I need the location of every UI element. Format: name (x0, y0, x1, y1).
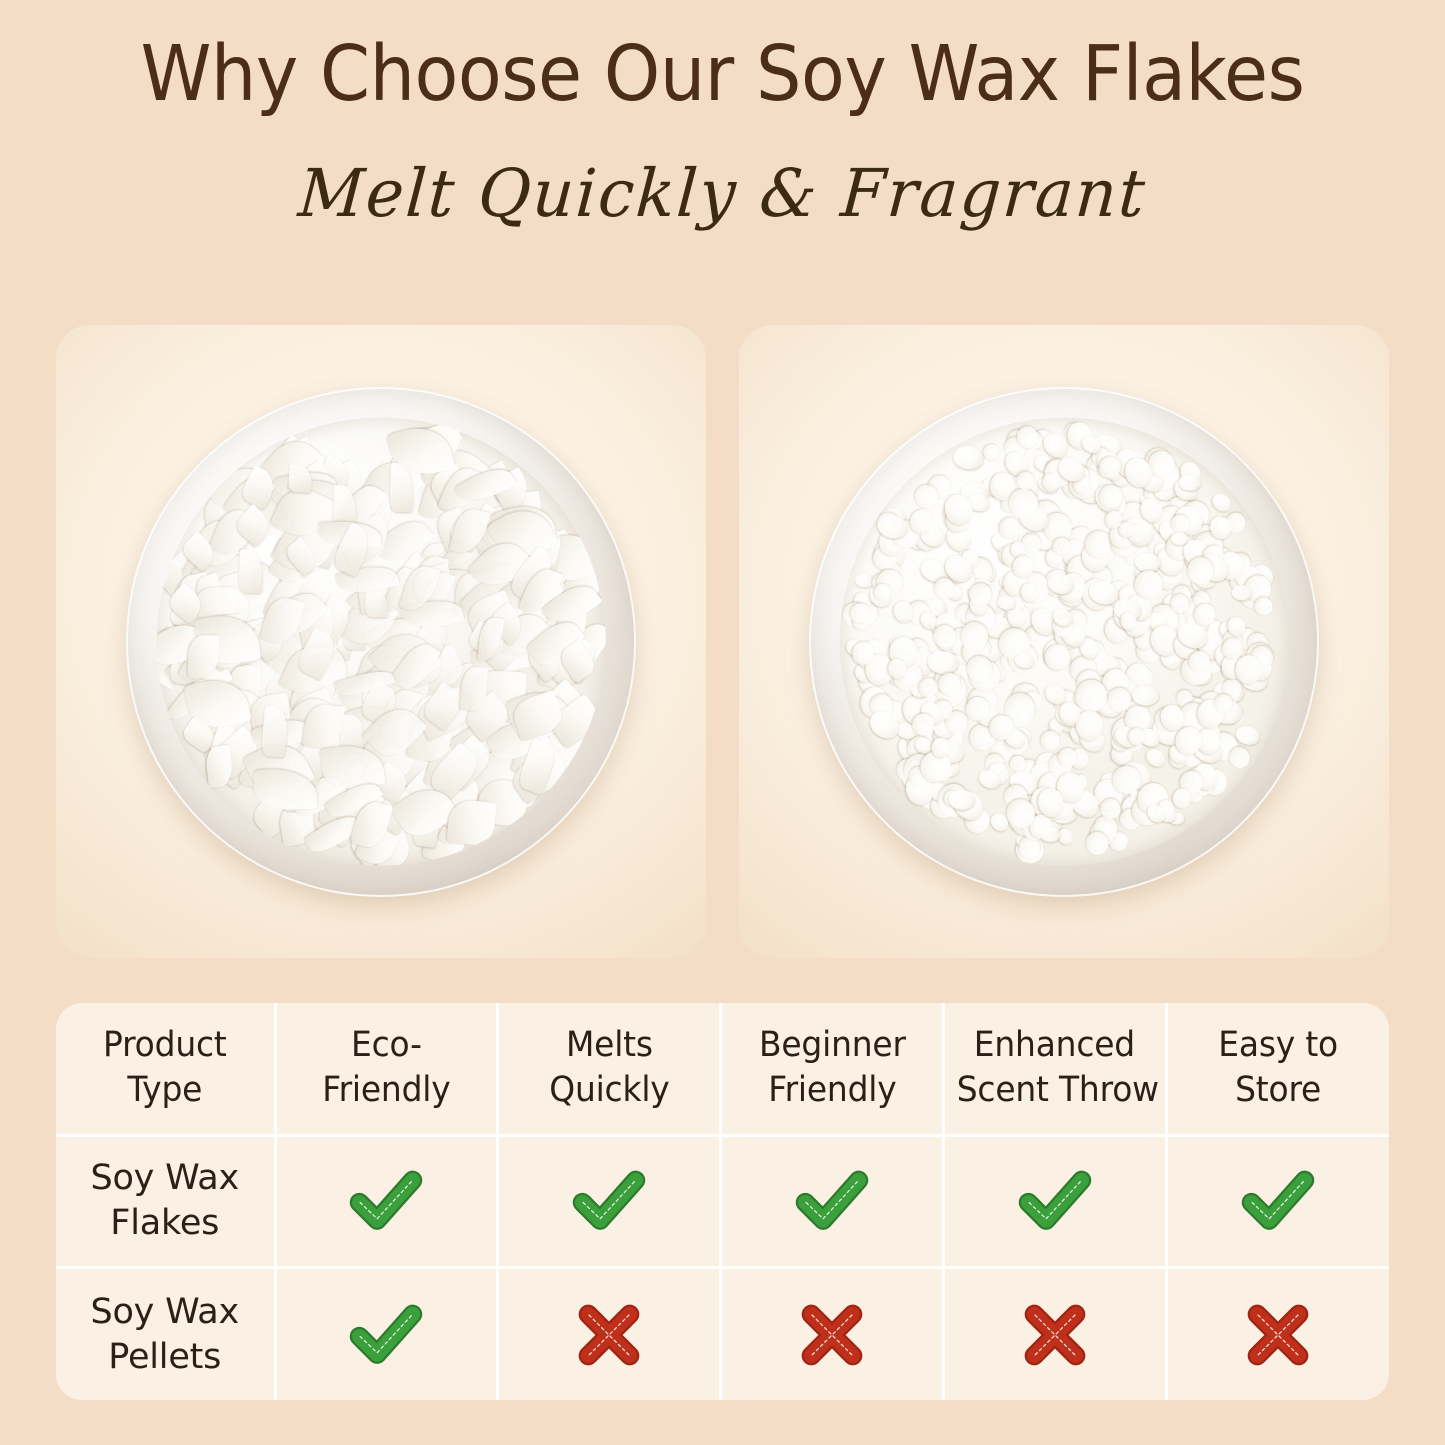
table-header: Product Type Eco- Friendly Melts Quickly… (56, 1003, 1389, 1135)
bowl-of-soy-wax-pellets (809, 387, 1319, 897)
column-header-line: Friendly (289, 1068, 484, 1113)
row-label-soy-wax-pellets: Soy Wax Pellets (56, 1268, 275, 1401)
cell-pellets-enhanced-scent-throw (943, 1268, 1166, 1401)
column-header-enhanced-scent-throw: Enhanced Scent Throw (950, 1003, 1159, 1135)
column-header-line: Store (1180, 1068, 1377, 1113)
table-body: Soy Wax Flakes Soy Wax Pellets (56, 1135, 1389, 1400)
column-header-easy-to-store: Easy to Store (1173, 1003, 1382, 1135)
check-mark-icon (349, 1298, 423, 1372)
comparison-table-panel: Product Type Eco- Friendly Melts Quickly… (56, 1003, 1389, 1400)
cell-flakes-eco-friendly (275, 1135, 498, 1268)
row-label-line: Pellets (62, 1335, 268, 1380)
check-mark-icon (1018, 1164, 1092, 1238)
table-header-row: Product Type Eco- Friendly Melts Quickly… (56, 1003, 1389, 1135)
column-header-line: Beginner (734, 1023, 929, 1068)
cell-pellets-melts-quickly (498, 1268, 721, 1401)
check-mark-icon (349, 1164, 423, 1238)
column-header-line: Easy to (1180, 1023, 1377, 1068)
row-label-text: Soy Wax Flakes (62, 1156, 268, 1246)
page-subtitle: Melt Quickly & Fragrant (19, 158, 1426, 231)
soy-wax-pellets-fill (840, 417, 1289, 866)
column-header-eco-friendly: Eco- Friendly (282, 1003, 491, 1135)
cell-flakes-melts-quickly (498, 1135, 721, 1268)
column-header-line: Type (68, 1068, 261, 1113)
column-header-line: Scent Throw (957, 1068, 1152, 1113)
column-header-beginner-friendly: Beginner Friendly (727, 1003, 936, 1135)
table-row: Soy Wax Flakes (56, 1135, 1389, 1268)
cell-flakes-easy-to-store (1166, 1135, 1389, 1268)
cross-mark-icon (1018, 1298, 1092, 1372)
cross-mark-icon (1241, 1298, 1315, 1372)
cell-pellets-eco-friendly (275, 1268, 498, 1401)
check-mark-icon (1241, 1164, 1315, 1238)
column-header-line: Enhanced (957, 1023, 1152, 1068)
glass-bowl (126, 387, 636, 897)
page-title: Why Choose Our Soy Wax Flakes (51, 36, 1395, 113)
column-header-line: Product (68, 1023, 261, 1068)
row-label-line: Flakes (62, 1201, 268, 1246)
cross-mark-icon (572, 1298, 646, 1372)
column-header-line: Friendly (734, 1068, 929, 1113)
column-header-line: Quickly (512, 1068, 707, 1113)
infographic-page: Why Choose Our Soy Wax Flakes Melt Quick… (0, 0, 1445, 1445)
row-label-text: Soy Wax Pellets (62, 1290, 268, 1380)
cell-flakes-beginner-friendly (721, 1135, 944, 1268)
cell-pellets-easy-to-store (1166, 1268, 1389, 1401)
column-header-product-type: Product Type (63, 1003, 269, 1135)
row-label-line: Soy Wax (62, 1290, 268, 1335)
row-label-soy-wax-flakes: Soy Wax Flakes (56, 1135, 275, 1268)
comparison-table: Product Type Eco- Friendly Melts Quickly… (56, 1003, 1389, 1400)
row-label-line: Soy Wax (62, 1156, 268, 1201)
product-card-pellets (739, 325, 1389, 958)
column-header-melts-quickly: Melts Quickly (504, 1003, 713, 1135)
column-header-line: Eco- (289, 1023, 484, 1068)
glass-bowl (809, 387, 1319, 897)
bowl-of-soy-wax-flakes (126, 387, 636, 897)
product-image-gallery (56, 325, 1389, 958)
column-header-line: Melts (512, 1023, 707, 1068)
product-card-flakes (56, 325, 706, 958)
cell-flakes-enhanced-scent-throw (943, 1135, 1166, 1268)
check-mark-icon (795, 1164, 869, 1238)
cross-mark-icon (795, 1298, 869, 1372)
soy-wax-flakes-fill (157, 417, 606, 866)
check-mark-icon (572, 1164, 646, 1238)
cell-pellets-beginner-friendly (721, 1268, 944, 1401)
table-row: Soy Wax Pellets (56, 1268, 1389, 1401)
